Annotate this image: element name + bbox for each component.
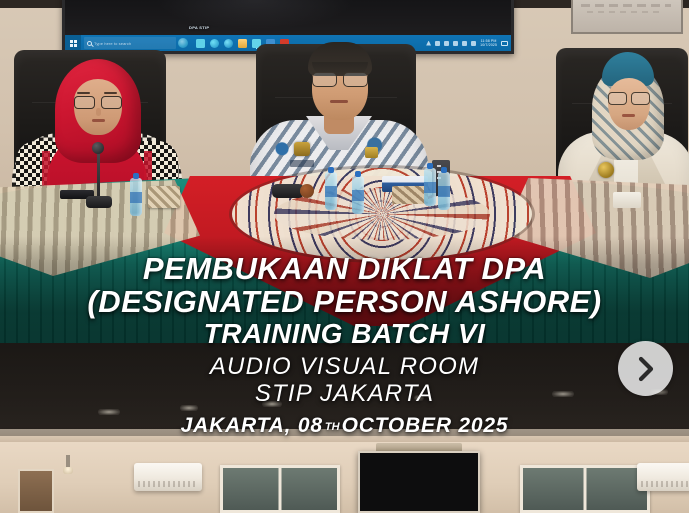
person-center-name-tag [290,160,314,167]
water-bottle-1 [130,178,142,216]
ceiling-light-4 [414,395,424,401]
cortana-icon[interactable] [178,38,188,48]
water-bottle-4 [424,168,436,206]
taskbar-clock[interactable]: 11:58 PM 10/7/2025 [480,39,497,48]
microphone-head-center [300,184,314,198]
wrapped-package-left [148,186,180,208]
bluetooth-icon[interactable] [462,41,467,46]
wall-mounted-lamp [66,455,70,469]
image-carousel: DPA STIP Type here to search [0,0,689,513]
person-right-gold-badge [598,162,614,178]
person-right-glasses [608,92,650,103]
person-center-uniform-emblem [294,142,310,156]
person-center-mouth [330,100,348,103]
ceiling-light-3 [262,401,282,407]
notifications-icon[interactable] [501,41,508,46]
ceiling-light-5 [552,391,574,397]
chevron-right-icon [635,356,657,382]
clock-date: 10/7/2025 [480,43,497,47]
person-left-mouth [92,119,105,122]
battery-icon[interactable] [471,41,476,46]
water-bottle-3 [352,176,364,214]
person-center-hair [308,42,372,76]
water-bottle-5 [438,172,450,210]
room2-doorway [18,469,54,513]
water-bottle-2 [325,172,337,210]
room2-cornice [0,429,689,442]
desktop-glow [155,0,355,30]
system-tray[interactable]: 11:58 PM 10/7/2025 [426,39,511,48]
air-conditioner-left [134,463,202,491]
person-left-glasses [74,96,122,107]
network-icon[interactable] [444,41,449,46]
person-left-nose [96,108,101,116]
onedrive-icon[interactable] [435,41,440,46]
microphone-stem-left [97,150,100,200]
air-conditioner-right [637,463,689,491]
projector-screen [358,451,480,513]
person-left-brow-right [104,92,117,94]
room2-window-left [220,465,340,513]
task-view-icon[interactable] [196,39,205,48]
microphone-head-left [92,142,104,154]
carousel-next-button[interactable] [618,341,673,396]
start-button-icon[interactable] [65,35,81,51]
white-box-right [613,192,641,208]
taskbar-window-label: DPA STIP [189,25,209,30]
room2-ceiling [0,343,689,443]
file-explorer-icon[interactable] [238,39,247,48]
whiteboard-text-line-1 [581,4,671,7]
search-icon [87,41,92,46]
wrapped-package-center [392,186,428,204]
microphone-base-left [86,196,112,208]
person-center-glasses [312,72,368,85]
chrome-browser-icon[interactable] [224,39,233,48]
carousel-slide-main-photo[interactable]: DPA STIP Type here to search [0,0,689,343]
person-right-mouth [622,114,635,117]
volume-icon[interactable] [453,41,458,46]
person-center-lapel-pin [365,147,378,158]
whiteboard-text-line-2 [587,11,659,13]
search-placeholder-text: Type here to search [94,41,131,46]
wall-whiteboard [571,0,683,34]
person-left-brow-left [77,92,90,94]
ceiling-light-1 [98,409,120,415]
taskbar-search-input[interactable]: Type here to search [84,37,176,49]
room2-window-right [520,465,650,513]
ceiling-light-2 [180,405,198,411]
edge-browser-icon[interactable] [210,39,219,48]
carousel-slide-next-preview[interactable] [0,343,689,513]
